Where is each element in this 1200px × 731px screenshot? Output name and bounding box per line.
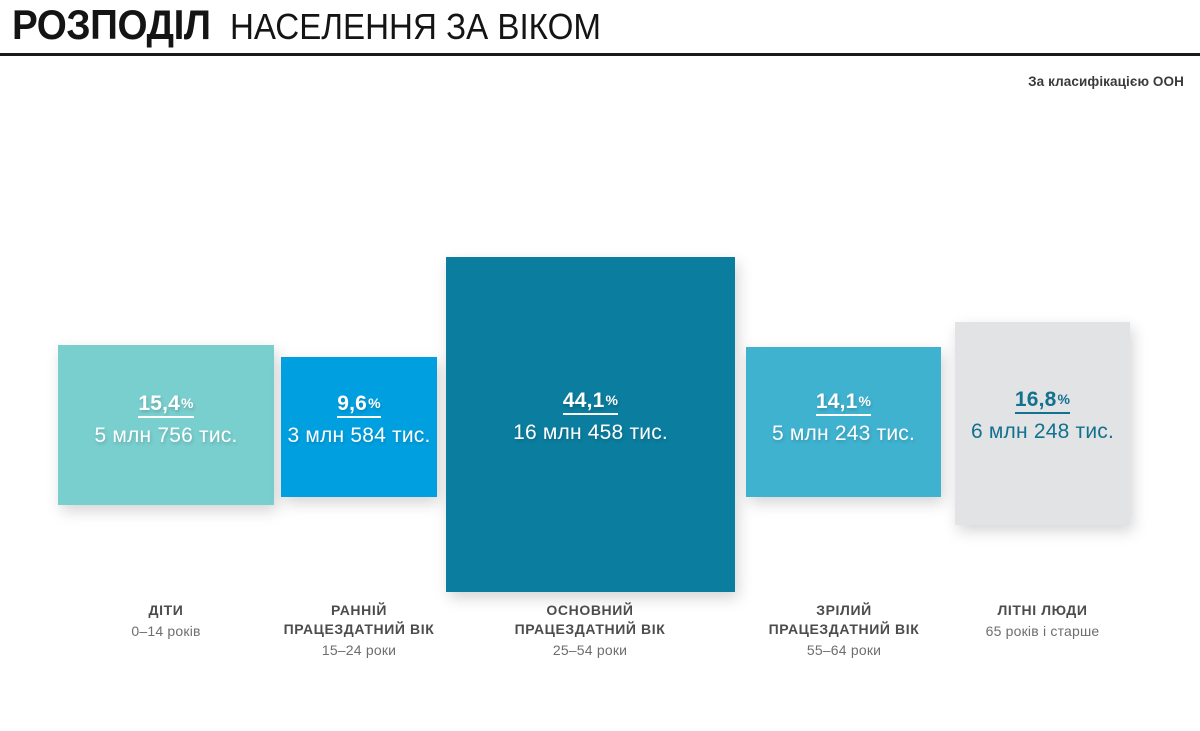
caption-range-early-working-age: 15–24 роки bbox=[259, 642, 459, 658]
caption-range-children: 0–14 років bbox=[48, 623, 284, 639]
bar-group-early-working-age: 9,6% 3 млн 584 тис. bbox=[281, 357, 437, 497]
bar-early-working-age[interactable] bbox=[281, 357, 437, 497]
caption-title-early-working-age: РАННІЙ ПРАЦЕЗДАТНИЙ ВІК bbox=[259, 601, 459, 639]
bar-group-core-working-age: 44,1% 16 млн 458 тис. bbox=[446, 257, 735, 592]
bar-mature-working-age[interactable] bbox=[746, 347, 941, 497]
caption-range-core-working-age: 25–54 роки bbox=[490, 642, 690, 658]
caption-early-working-age: РАННІЙ ПРАЦЕЗДАТНИЙ ВІК 15–24 роки bbox=[259, 601, 459, 658]
bar-children[interactable] bbox=[58, 345, 274, 505]
caption-title-elderly: ЛІТНІ ЛЮДИ bbox=[940, 601, 1145, 620]
caption-core-working-age: ОСНОВНИЙ ПРАЦЕЗДАТНИЙ ВІК 25–54 роки bbox=[490, 601, 690, 658]
caption-title-mature-working-age: ЗРІЛИЙ ПРАЦЕЗДАТНИЙ ВІК bbox=[744, 601, 944, 639]
caption-range-mature-working-age: 55–64 роки bbox=[744, 642, 944, 658]
caption-range-elderly: 65 років і старше bbox=[940, 623, 1145, 639]
bar-core-working-age[interactable] bbox=[446, 257, 735, 592]
bar-group-mature-working-age: 14,1% 5 млн 243 тис. bbox=[746, 347, 941, 497]
caption-elderly: ЛІТНІ ЛЮДИ 65 років і старше bbox=[940, 601, 1145, 639]
age-distribution-bar-chart: 15,4% 5 млн 756 тис. ДІТИ 0–14 років 9,6… bbox=[0, 0, 1200, 731]
caption-children: ДІТИ 0–14 років bbox=[48, 601, 284, 639]
bar-elderly[interactable] bbox=[955, 322, 1130, 525]
caption-title-core-working-age: ОСНОВНИЙ ПРАЦЕЗДАТНИЙ ВІК bbox=[490, 601, 690, 639]
bar-group-elderly: 16,8% 6 млн 248 тис. bbox=[955, 322, 1130, 525]
caption-mature-working-age: ЗРІЛИЙ ПРАЦЕЗДАТНИЙ ВІК 55–64 роки bbox=[744, 601, 944, 658]
caption-title-children: ДІТИ bbox=[48, 601, 284, 620]
bar-group-children: 15,4% 5 млн 756 тис. bbox=[58, 345, 274, 505]
